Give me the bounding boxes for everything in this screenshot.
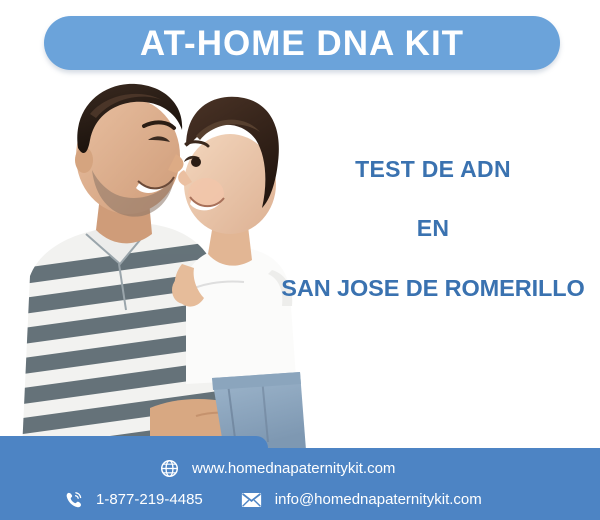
headline-city: SAN JOSE DE ROMERILLO bbox=[268, 277, 598, 301]
contact-footer: www.homednapaternitykit.com 1-877-219-44… bbox=[0, 436, 600, 520]
headline-service: TEST DE ADN bbox=[268, 158, 598, 181]
dna-kit-banner: AT-HOME DNA KIT bbox=[0, 0, 600, 520]
headline-connector: EN bbox=[268, 217, 598, 240]
envelope-icon bbox=[241, 492, 262, 508]
page-title: AT-HOME DNA KIT bbox=[140, 26, 464, 61]
location-text-block: TEST DE ADN EN SAN JOSE DE ROMERILLO bbox=[268, 158, 598, 301]
email-label: info@homednapaternitykit.com bbox=[275, 492, 482, 507]
website-row[interactable]: www.homednapaternitykit.com bbox=[160, 459, 395, 478]
family-photo bbox=[0, 78, 310, 450]
family-photo-illustration bbox=[0, 78, 310, 450]
phone-email-row: 1-877-219-4485 info@homednapaternitykit.… bbox=[64, 490, 482, 509]
footer-contact-rows: www.homednapaternitykit.com 1-877-219-44… bbox=[0, 436, 600, 520]
website-label: www.homednapaternitykit.com bbox=[192, 461, 395, 476]
globe-icon bbox=[160, 459, 179, 478]
header-pill: AT-HOME DNA KIT bbox=[44, 16, 560, 70]
phone-label: 1-877-219-4485 bbox=[96, 492, 203, 507]
phone-icon bbox=[64, 490, 83, 509]
